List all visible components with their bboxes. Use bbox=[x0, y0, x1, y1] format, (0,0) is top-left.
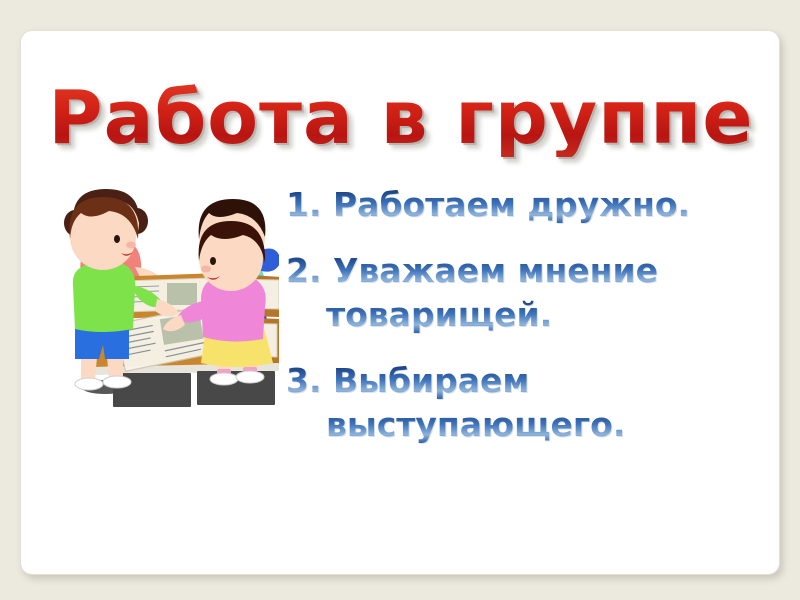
rule-item-3: 3. Выбираем выступающего. bbox=[286, 359, 766, 447]
rule-2-line-1: 2. Уважаем мнение bbox=[286, 249, 766, 293]
rule-3-line-2: выступающего. bbox=[286, 403, 766, 447]
page-title: Работа в группе bbox=[21, 79, 780, 157]
rule-item-1: 1. Работаем дружно. bbox=[286, 183, 766, 227]
rule-2-line-2: товарищей. bbox=[286, 293, 766, 337]
group-work-illustration bbox=[51, 181, 279, 409]
rule-3-line-1: 3. Выбираем bbox=[286, 359, 766, 403]
slide-card: Работа в группе bbox=[20, 30, 780, 575]
rule-1-line-1: 1. Работаем дружно. bbox=[286, 183, 766, 227]
rules-list: 1. Работаем дружно. 2. Уважаем мнение то… bbox=[286, 183, 766, 447]
rule-item-2: 2. Уважаем мнение товарищей. bbox=[286, 249, 766, 337]
